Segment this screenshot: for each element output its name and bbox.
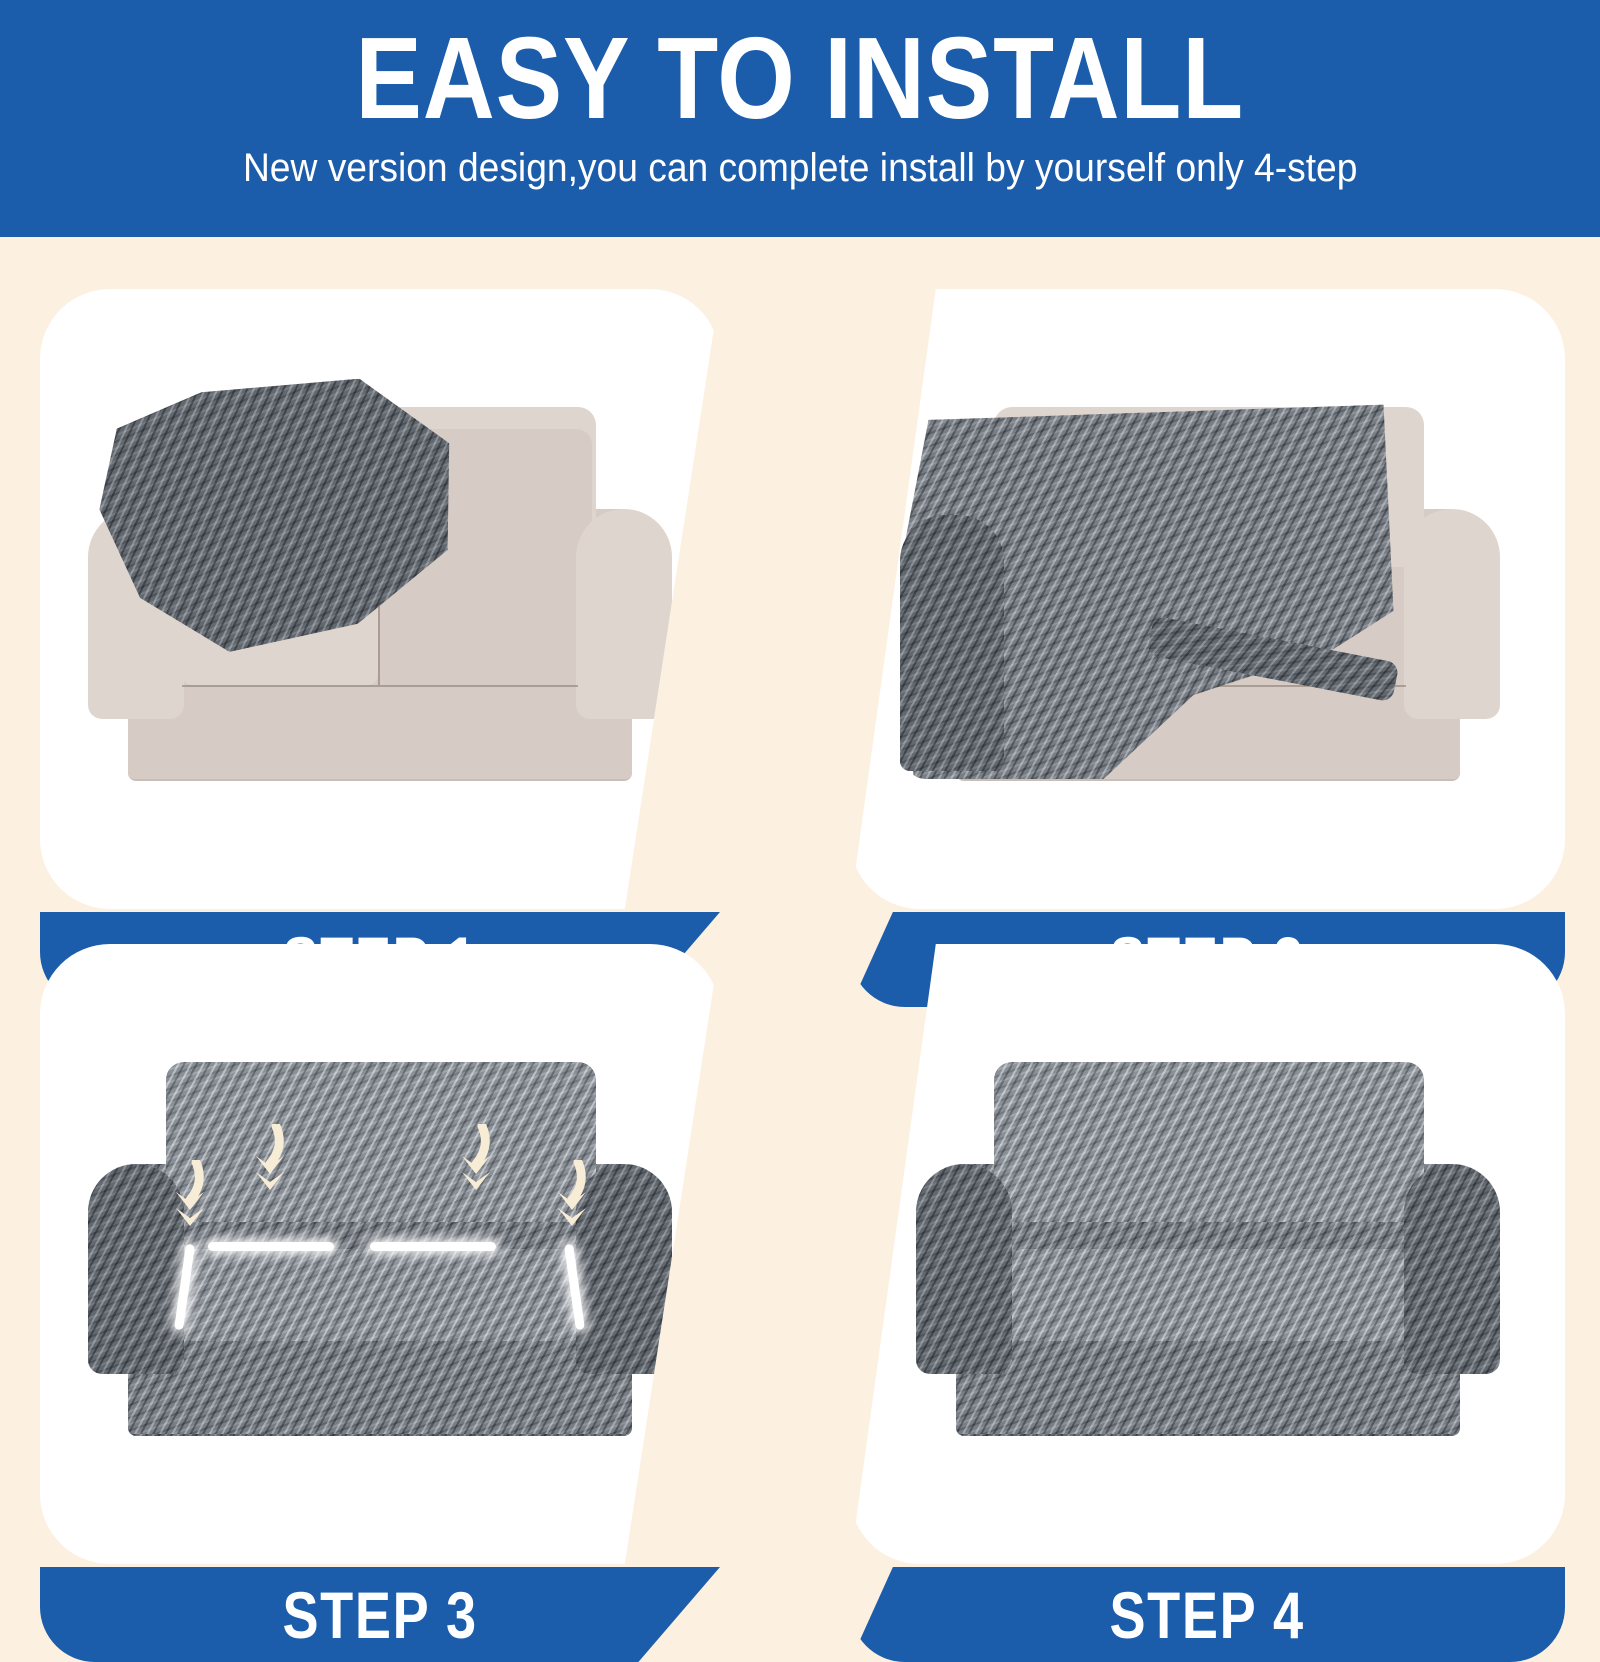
page-subtitle: New version design,you can complete inst…: [243, 146, 1358, 191]
step-2-photo-panel: [850, 289, 1565, 909]
sofa-backrest: [166, 1062, 596, 1222]
tuck-arrow-icon-2: [246, 1124, 292, 1196]
tuck-arrow-icon-4: [548, 1160, 594, 1232]
steps-grid: STEP 1 STEP 2: [0, 237, 1600, 1600]
sofa-backrest: [994, 1062, 1424, 1222]
step-4-label-banner: STEP 4: [850, 1567, 1565, 1662]
step-3-photo-panel: [40, 944, 720, 1564]
step-4-photo-panel: [850, 944, 1565, 1564]
sofa-arm-left: [916, 1164, 1012, 1374]
header-banner: EASY TO INSTALL New version design,you c…: [0, 0, 1600, 237]
seat-seam: [182, 685, 578, 687]
sofa-illustration-step-4: [898, 1044, 1518, 1464]
seat-cushion-right: [382, 589, 578, 685]
sofa-illustration-step-1: [70, 389, 690, 809]
step-card-2[interactable]: [850, 289, 1565, 909]
tuck-arrow-icon-3: [452, 1124, 498, 1196]
step-3-label-banner: STEP 3: [40, 1567, 720, 1662]
step-card-3[interactable]: [40, 944, 720, 1564]
step-1-photo-panel: [40, 289, 720, 909]
slipcover-arm-left: [900, 515, 1004, 771]
tuck-line-center-left: [208, 1242, 334, 1251]
step-3-label: STEP 3: [282, 1577, 477, 1653]
step-card-4[interactable]: [850, 944, 1565, 1564]
sofa-seat: [1010, 1249, 1406, 1341]
step-4-label: STEP 4: [1110, 1577, 1305, 1653]
step-card-1[interactable]: [40, 289, 720, 909]
sofa-arm-right: [1404, 1164, 1500, 1374]
sofa-arm-right: [576, 509, 672, 719]
sofa-seat: [182, 1249, 578, 1341]
sofa-illustration-step-3: [70, 1044, 690, 1464]
page-title: EASY TO INSTALL: [356, 18, 1245, 140]
sofa-illustration-step-2: [898, 389, 1518, 809]
sofa-arm-right: [1404, 509, 1500, 719]
tuck-arrow-icon-1: [166, 1160, 212, 1232]
tuck-line-center-right: [370, 1242, 496, 1251]
